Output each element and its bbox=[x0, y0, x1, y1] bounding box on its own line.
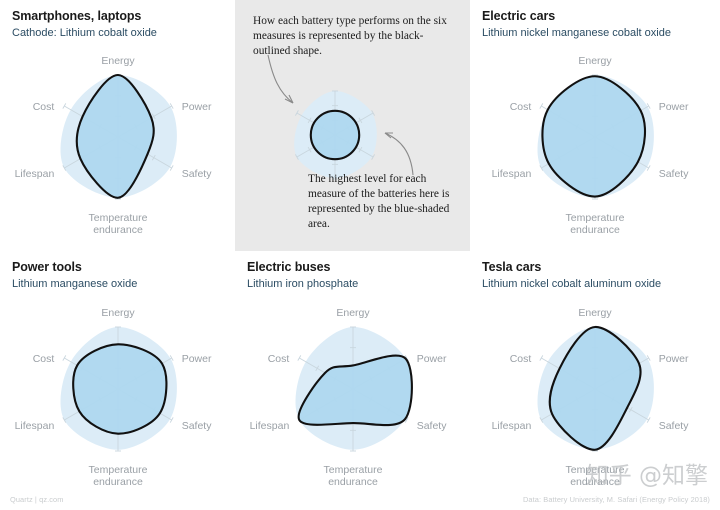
axis-label-power: Power bbox=[417, 353, 447, 365]
axis-label-safety: Safety bbox=[182, 420, 213, 432]
panel-tesla-cars: Tesla cars Lithium nickel cobalt aluminu… bbox=[470, 251, 720, 510]
axis-label-cost: Cost bbox=[268, 353, 290, 365]
axis-label-power: Power bbox=[182, 101, 212, 113]
radar-chart-power-tools: EnergyPowerSafetyTemperatureenduranceLif… bbox=[0, 251, 235, 510]
credit-label: Quartz | qz.com bbox=[10, 495, 64, 504]
annotation-arrow bbox=[385, 133, 413, 175]
chart-grid: Smartphones, laptops Cathode: Lithium co… bbox=[0, 0, 720, 510]
radar-chart-electric-buses: EnergyPowerSafetyTemperatureenduranceLif… bbox=[235, 251, 470, 510]
axis-label-lifespan: Lifespan bbox=[492, 168, 532, 180]
axis-label-energy: Energy bbox=[101, 55, 135, 67]
axis-label-cost: Cost bbox=[33, 353, 55, 365]
axis-label-power: Power bbox=[182, 353, 212, 365]
radar-chart-smartphones-laptops: EnergyPowerSafetyTemperatureenduranceLif… bbox=[0, 0, 235, 251]
panel-power-tools: Power tools Lithium manganese oxide Ener… bbox=[0, 251, 235, 510]
panel-electric-buses: Electric buses Lithium iron phosphate En… bbox=[235, 251, 470, 510]
radar-chart-electric-cars: EnergyPowerSafetyTemperatureenduranceLif… bbox=[470, 0, 720, 251]
axis-label-safety: Safety bbox=[182, 168, 213, 180]
panel-explanation: How each battery type performs on the si… bbox=[235, 0, 470, 251]
axis-label-lifespan: Lifespan bbox=[250, 420, 290, 432]
axis-label-lifespan: Lifespan bbox=[15, 420, 55, 432]
axis-label-power: Power bbox=[659, 353, 689, 365]
axis-label-cost: Cost bbox=[510, 353, 532, 365]
axis-label-lifespan: Lifespan bbox=[15, 168, 55, 180]
panel-smartphones-laptops: Smartphones, laptops Cathode: Lithium co… bbox=[0, 0, 235, 251]
radar-chart-tesla-cars: EnergyPowerSafetyTemperatureenduranceLif… bbox=[470, 251, 720, 510]
axis-label-safety: Safety bbox=[659, 168, 690, 180]
axis-label-energy: Energy bbox=[578, 55, 612, 67]
axis-label-safety: Safety bbox=[417, 420, 448, 432]
axis-label-temperature-endurance: Temperatureendurance bbox=[89, 212, 148, 236]
axis-label-temperature-endurance: Temperatureendurance bbox=[566, 464, 625, 488]
axis-label-energy: Energy bbox=[336, 307, 370, 319]
source-label: Data: Battery University, M. Safari (Ene… bbox=[523, 495, 710, 504]
axis-label-safety: Safety bbox=[659, 420, 690, 432]
panel-electric-cars: Electric cars Lithium nickel manganese c… bbox=[470, 0, 720, 251]
axis-label-cost: Cost bbox=[33, 101, 55, 113]
axis-label-temperature-endurance: Temperatureendurance bbox=[324, 464, 383, 488]
axis-label-power: Power bbox=[659, 101, 689, 113]
explanation-note-bottom: The highest level for each measure of th… bbox=[308, 172, 458, 233]
axis-label-temperature-endurance: Temperatureendurance bbox=[566, 212, 625, 236]
axis-label-lifespan: Lifespan bbox=[492, 420, 532, 432]
axis-label-temperature-endurance: Temperatureendurance bbox=[89, 464, 148, 488]
axis-label-energy: Energy bbox=[578, 307, 612, 319]
axis-label-cost: Cost bbox=[510, 101, 532, 113]
axis-label-energy: Energy bbox=[101, 307, 135, 319]
